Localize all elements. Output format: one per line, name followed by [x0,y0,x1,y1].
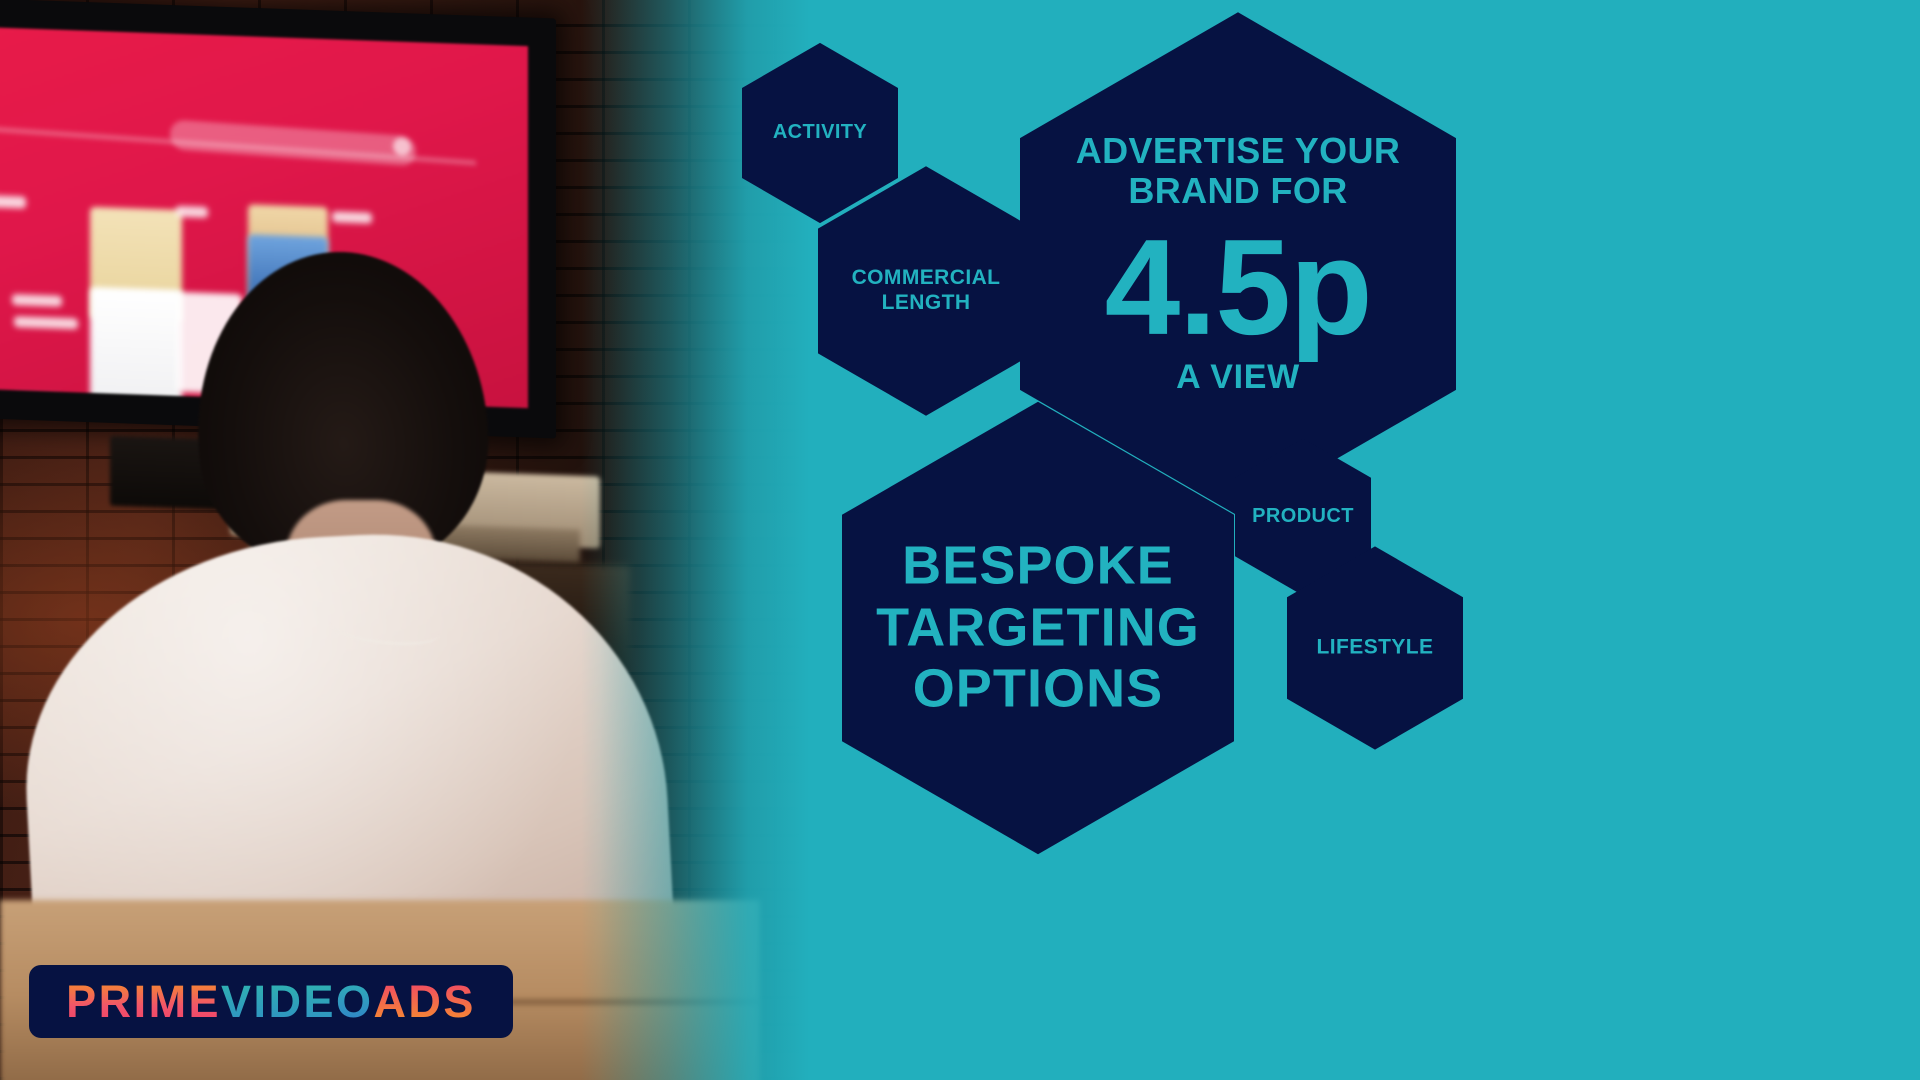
logo-wordmark: PRIMEVIDEOADS [66,976,476,1028]
logo-part-prime: PRIME [66,976,221,1028]
logo-part-o: O [336,976,373,1028]
logo-part-ads: ADS [373,976,475,1028]
banner-root: ACTIVITY COMMERCIAL LENGTH PRODUCT LIFES… [0,0,1920,1080]
offer-unit: A VIEW [1028,358,1448,397]
offer-price: 4.5p [1028,217,1448,356]
offer-headline-line2: BRAND FOR [1028,171,1448,211]
hex-cluster [0,0,1920,1080]
offer-headline-line1: ADVERTISE YOUR [1028,131,1448,171]
logo-part-vide: VIDE [221,976,336,1028]
primevideoads-logo[interactable]: PRIMEVIDEOADS [29,965,513,1038]
offer-block: ADVERTISE YOUR BRAND FOR 4.5p A VIEW [1028,131,1448,397]
